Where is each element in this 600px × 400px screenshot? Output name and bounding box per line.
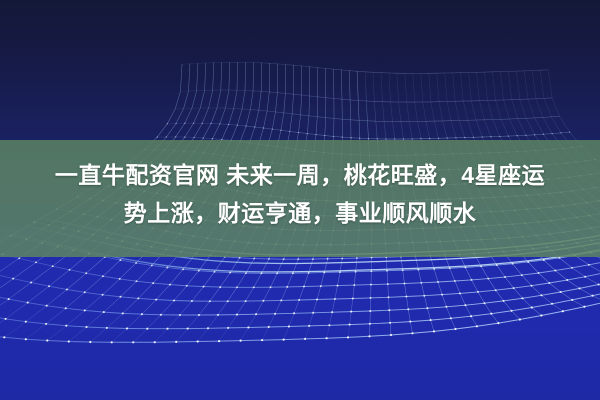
headline-line-1: 一直牛配资官网 未来一周，桃花旺盛，4星座运 — [8, 156, 592, 194]
headline-text: 一直牛配资官网 未来一周，桃花旺盛，4星座运 势上涨，财运亨通，事业顺风顺水 — [0, 156, 600, 232]
banner-image: 一直牛配资官网 未来一周，桃花旺盛，4星座运 势上涨，财运亨通，事业顺风顺水 — [0, 0, 600, 400]
headline-line-2: 势上涨，财运亨通，事业顺风顺水 — [8, 194, 592, 232]
